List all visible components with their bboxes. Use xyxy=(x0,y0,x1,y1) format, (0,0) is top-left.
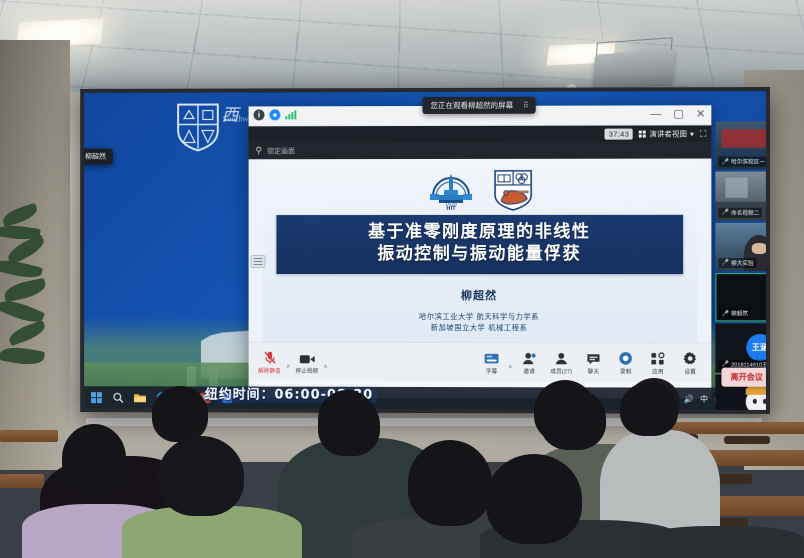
ceiling-projector xyxy=(593,49,675,89)
apps-grid-icon xyxy=(651,350,665,365)
record-button[interactable]: 录制 xyxy=(611,348,641,377)
person-head xyxy=(486,454,582,544)
apps-label: 应用 xyxy=(652,367,663,375)
slide-title: 基于准零刚度原理的非线性 振动控制与振动能量俘获 xyxy=(276,215,683,274)
slide-title-line-2: 振动控制与振动能量俘获 xyxy=(282,244,677,266)
invite-person-icon xyxy=(522,350,536,365)
person-head xyxy=(62,424,126,492)
settings-label: 设置 xyxy=(684,367,695,375)
minimize-button[interactable]: — xyxy=(648,109,663,120)
participant-strip[interactable]: 🎤 哈尔滨校区一 🎤 命名视频二 🎤 xyxy=(715,121,766,410)
pin-icon[interactable]: ⚲ xyxy=(256,145,263,156)
participant-tile-speaking[interactable]: 🎤 柳超然 xyxy=(715,273,766,322)
invite-label: 邀请 xyxy=(523,367,534,375)
lock-screen-label: 锁定画面 xyxy=(267,146,295,156)
affiliation-line-2: 新加坡国立大学 机械工程系 xyxy=(262,322,697,334)
captions-button[interactable]: 字幕 xyxy=(477,348,507,377)
invite-button[interactable]: 邀请 xyxy=(514,348,544,377)
chat-button[interactable]: 聊天 xyxy=(578,348,608,377)
wall-display: 西 Southwest 您正在观看柳超然的屏幕 ⠿ i ● xyxy=(80,87,770,414)
participant-tile-1[interactable]: 🎤 哈尔滨校区一 xyxy=(715,121,766,170)
record-icon xyxy=(619,350,633,365)
layout-grid-icon xyxy=(639,130,646,137)
members-button[interactable]: 成员(27) xyxy=(546,348,576,377)
slide-logos: 1920 HIT xyxy=(425,169,533,211)
nus-logo-icon xyxy=(493,169,533,211)
mic-icon: 🎤 xyxy=(721,158,729,165)
participant-name-label: 🎤 柳超然 xyxy=(718,309,751,319)
audience-area xyxy=(0,378,804,558)
slide-navigation-handle[interactable] xyxy=(251,255,266,268)
speaking-now-toast: 🎙 正在讲话: 柳超然 xyxy=(84,149,113,165)
fullscreen-icon[interactable]: ⛶ xyxy=(700,128,706,139)
participant-name: 命名视频二 xyxy=(731,208,759,216)
participant-tile-2[interactable]: 🎤 命名视频二 xyxy=(715,172,766,221)
speaking-now-text: 正在讲话: 柳超然 xyxy=(84,152,106,162)
members-label: 成员(27) xyxy=(550,367,572,375)
slide-title-line-1: 基于准零刚度原理的非线性 xyxy=(282,222,677,244)
person-head xyxy=(408,440,492,526)
mic-icon: 🎤 xyxy=(721,260,729,267)
desk-row-left xyxy=(0,430,58,442)
participant-name-label: 🎤 命名视频二 xyxy=(718,207,762,217)
participant-tile-avatar[interactable]: 王涵 🎤 2018114910王涵 xyxy=(715,324,766,373)
person-head xyxy=(152,386,208,442)
participant-name: 柳大实验 xyxy=(731,259,754,267)
meeting-toolbar: 解除静音 ˄ 停止视频 ˄ xyxy=(249,342,712,382)
lock-screen-bar[interactable]: ⚲ 锁定画面 xyxy=(249,141,712,159)
camera-options-caret[interactable]: ˄ xyxy=(324,365,328,371)
maximize-button[interactable]: ▢ xyxy=(671,109,686,120)
desk-row-left-front xyxy=(0,474,44,488)
svg-text:HIT: HIT xyxy=(446,206,456,210)
video-status-icon[interactable]: ● xyxy=(269,109,280,120)
slide-presenter-name: 柳超然 xyxy=(262,287,697,303)
share-notice-text: 您正在观看柳超然的屏幕 xyxy=(430,100,513,111)
participant-name-label: 🎤 哈尔滨校区一 xyxy=(718,157,766,167)
subbar-right-group: 37:43 演讲者视图 ▾ ⛶ xyxy=(605,128,707,139)
presentation-slide: 1920 HIT xyxy=(262,159,697,360)
participant-name-label: 🎤 柳大实验 xyxy=(718,258,756,268)
stop-video-button[interactable]: 停止视频 xyxy=(292,347,322,376)
meeting-subbar: 37:43 演讲者视图 ▾ ⛶ xyxy=(249,125,712,142)
display-surface: 西 Southwest 您正在观看柳超然的屏幕 ⠿ i ● xyxy=(84,91,766,410)
unmute-label: 解除静音 xyxy=(258,366,281,374)
captions-label: 字幕 xyxy=(486,367,497,375)
unmute-button[interactable]: 解除静音 xyxy=(255,347,285,376)
members-icon xyxy=(554,350,568,365)
participant-name: 柳超然 xyxy=(731,310,748,318)
chevron-down-icon[interactable]: ▾ xyxy=(690,129,694,138)
participant-tile-3[interactable]: 🎤 柳大实验 xyxy=(715,222,766,271)
share-notice-grip[interactable]: ⠿ xyxy=(523,101,528,110)
meeting-timer: 37:43 xyxy=(605,128,633,139)
person-head xyxy=(540,388,606,450)
settings-button[interactable]: 设置 xyxy=(675,348,705,377)
camera-icon xyxy=(299,349,315,364)
affiliation-line-1: 哈尔滨工业大学 航天科学与力学系 xyxy=(262,311,697,323)
captions-icon xyxy=(484,350,499,365)
person-head xyxy=(158,436,244,516)
mic-icon: 🎤 xyxy=(721,310,729,317)
record-label: 录制 xyxy=(620,367,631,375)
stop-video-label: 停止视频 xyxy=(295,366,318,374)
screen-share-notice: 您正在观看柳超然的屏幕 ⠿ xyxy=(423,97,536,114)
hit-logo-icon: 1920 HIT xyxy=(425,170,477,210)
lecture-hall-scene: 西 Southwest 您正在观看柳超然的屏幕 ⠿ i ● xyxy=(0,0,804,558)
chair-right-2 xyxy=(724,436,770,444)
mic-muted-icon xyxy=(263,349,276,364)
chat-bubble-icon xyxy=(586,350,600,365)
gear-icon xyxy=(683,350,697,365)
network-signal-icon[interactable] xyxy=(285,110,296,119)
info-icon[interactable]: i xyxy=(254,109,265,120)
meeting-window[interactable]: 您正在观看柳超然的屏幕 ⠿ i ● — ▢ ✕ xyxy=(249,105,712,398)
participant-name: 哈尔滨校区一 xyxy=(731,158,765,166)
university-crest-icon xyxy=(175,101,221,153)
mic-muted-icon: 🎤 xyxy=(721,209,729,216)
captions-options-caret[interactable]: ˄ xyxy=(509,365,513,371)
view-mode-label: 演讲者视图 xyxy=(649,128,687,139)
mic-options-caret[interactable]: ˄ xyxy=(286,365,289,371)
avatar: 王涵 xyxy=(746,333,766,360)
close-button[interactable]: ✕ xyxy=(694,109,707,120)
slide-affiliations: 哈尔滨工业大学 航天科学与力学系 新加坡国立大学 机械工程系 xyxy=(262,311,697,334)
view-mode-switch[interactable]: 演讲者视图 ▾ xyxy=(639,128,694,139)
person-body-right-edge xyxy=(640,526,804,558)
apps-button[interactable]: 应用 xyxy=(643,348,673,377)
shared-screen-area: 1920 HIT xyxy=(249,159,712,360)
titlebar-status-icons: i ● xyxy=(254,109,297,120)
person-head xyxy=(318,394,380,456)
person-head xyxy=(620,382,678,436)
chat-label: 聊天 xyxy=(588,367,599,375)
